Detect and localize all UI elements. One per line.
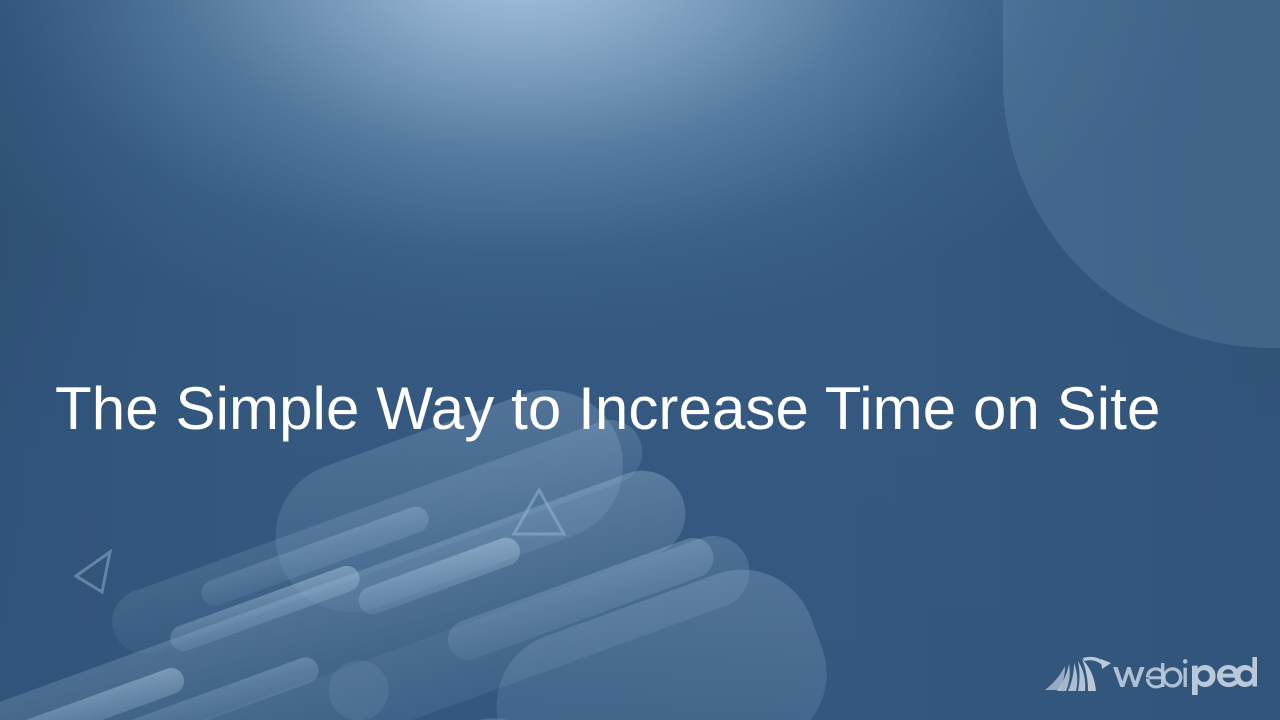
decorative-shapes-svg	[0, 430, 700, 720]
slide-title: The Simple Way to Increase Time on Site	[55, 373, 1235, 445]
logo-wordmark-light	[1113, 659, 1188, 688]
logo-svg	[1043, 650, 1257, 698]
decorative-shape-cluster	[0, 430, 700, 720]
logo-wordmark-bold	[1192, 656, 1257, 695]
logo-swoosh-icon	[1045, 657, 1111, 691]
webipedia-logo[interactable]	[1043, 650, 1257, 698]
presentation-slide: The Simple Way to Increase Time on Site	[0, 0, 1280, 720]
deco-triangle-outline-left	[76, 552, 110, 592]
